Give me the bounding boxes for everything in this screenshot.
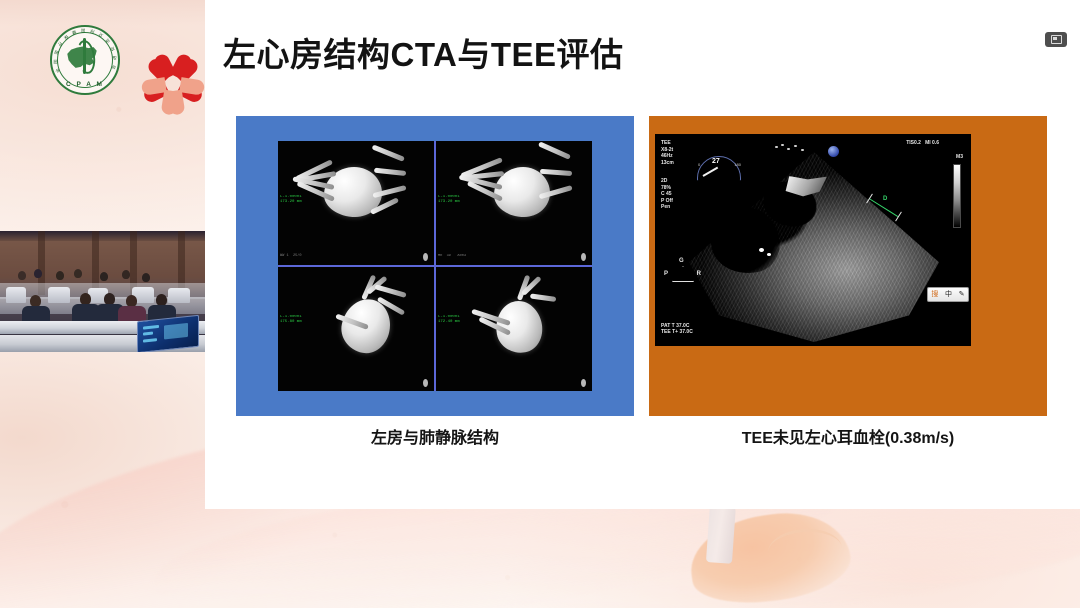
tee-orientation-marker: G P R: [665, 260, 699, 282]
orientation-label-right: R: [697, 271, 701, 277]
cta-panel-caption: 左房与肺静脉结构: [236, 424, 634, 448]
cta-quadrant-posterior[interactable]: L-1.00001 173.20 mm MR 3D A003: [436, 141, 592, 265]
ime-tool-icon[interactable]: ✎: [959, 291, 965, 298]
sector-angle-value: 27: [712, 158, 720, 165]
tee-mode-settings: 2D 78% C 45 P Off Pen: [661, 178, 673, 211]
video-stage-monitor: [137, 315, 199, 352]
cta-quadrant-viewport[interactable]: L-1.00001 173.20 mm WW 1 25/0 L-1.00001 …: [278, 141, 592, 391]
cpam-arc-text: 中国医疗保健国际交流促进会: [50, 25, 120, 95]
video-ceiling: [0, 231, 205, 241]
cta-overlay-green-1: L-1.00001 173.20 mm: [280, 195, 302, 205]
cta-quadrant-anterior[interactable]: L-1.00001 173.20 mm WW 1 25/0: [278, 141, 434, 265]
cta-overlay-gray-2: MR 3D A003: [438, 254, 466, 259]
audience-video-thumbnail[interactable]: [0, 231, 205, 352]
tee-panel-caption: TEE未见左心耳血栓(0.38m/s): [649, 424, 1047, 448]
caliper-label: D: [883, 196, 887, 202]
heart-clover-logo: [140, 33, 206, 99]
fullscreen-icon: [1051, 35, 1062, 44]
cta-quadrant-inferior[interactable]: L-1.00001 172.40 mm: [436, 267, 592, 391]
orientation-triangle-icon: [672, 266, 694, 282]
cta-overlay-gray-1: WW 1 25/0: [280, 254, 302, 259]
cta-overlay-green-4: L-1.00001 172.40 mm: [438, 315, 460, 325]
ime-mode-icon[interactable]: 中: [945, 291, 952, 298]
cta-image-panel[interactable]: L-1.00001 173.20 mm WW 1 25/0 L-1.00001 …: [236, 116, 634, 416]
tee-transducer-mode: M3: [956, 154, 963, 161]
tee-image-panel[interactable]: TEE X8-2t 46Hz 13cm 2D 78% C 45 P Off Pe…: [649, 116, 1047, 416]
tee-probe-header: TEE X8-2t 46Hz 13cm: [661, 140, 674, 166]
page-title: 左心房结构CTA与TEE评估: [223, 28, 624, 76]
slide-surface: 左心房结构CTA与TEE评估 L-1.00001 173.20 mm WW 1 …: [205, 0, 1080, 509]
orientation-label-left: P: [664, 271, 668, 277]
measurement-caliper[interactable]: D: [867, 184, 903, 218]
sector-tick-max: 180: [734, 162, 741, 167]
presentation-screen: 左心房结构CTA与TEE评估 L-1.00001 173.20 mm WW 1 …: [0, 0, 1080, 608]
orientation-label-top: G: [679, 258, 684, 264]
tee-acoustic-output: TIS0.2 MI 0.6: [906, 140, 939, 147]
ime-language-bar[interactable]: 搜 中 ✎: [927, 287, 969, 302]
probe-marker-cluster: [775, 144, 825, 156]
grayscale-bar: [953, 164, 961, 228]
depth-marker-dot: [828, 146, 839, 157]
sector-tick-min: 0: [698, 162, 700, 167]
cta-overlay-green-3: L-1.00001 175.80 mm: [280, 315, 302, 325]
tee-temperature-readout: PAT T 37.0C TEE T+ 37.0C: [661, 323, 693, 336]
fullscreen-toggle-button[interactable]: [1045, 32, 1067, 47]
cpam-logo: C P A M 中国医疗保健国际交流促进会: [50, 25, 120, 95]
ime-logo-icon[interactable]: 搜: [931, 291, 938, 298]
tee-sector-angle-gauge: 27 0 180: [697, 156, 739, 182]
cta-quadrant-superior[interactable]: L-1.00001 175.80 mm: [278, 267, 434, 391]
caliper-endpoint-start: [866, 194, 873, 204]
cta-overlay-green-2: L-1.00001 173.20 mm: [438, 195, 460, 205]
tee-ultrasound-screen[interactable]: TEE X8-2t 46Hz 13cm 2D 78% C 45 P Off Pe…: [655, 134, 971, 346]
cta-crosshair-vertical: [434, 141, 436, 391]
